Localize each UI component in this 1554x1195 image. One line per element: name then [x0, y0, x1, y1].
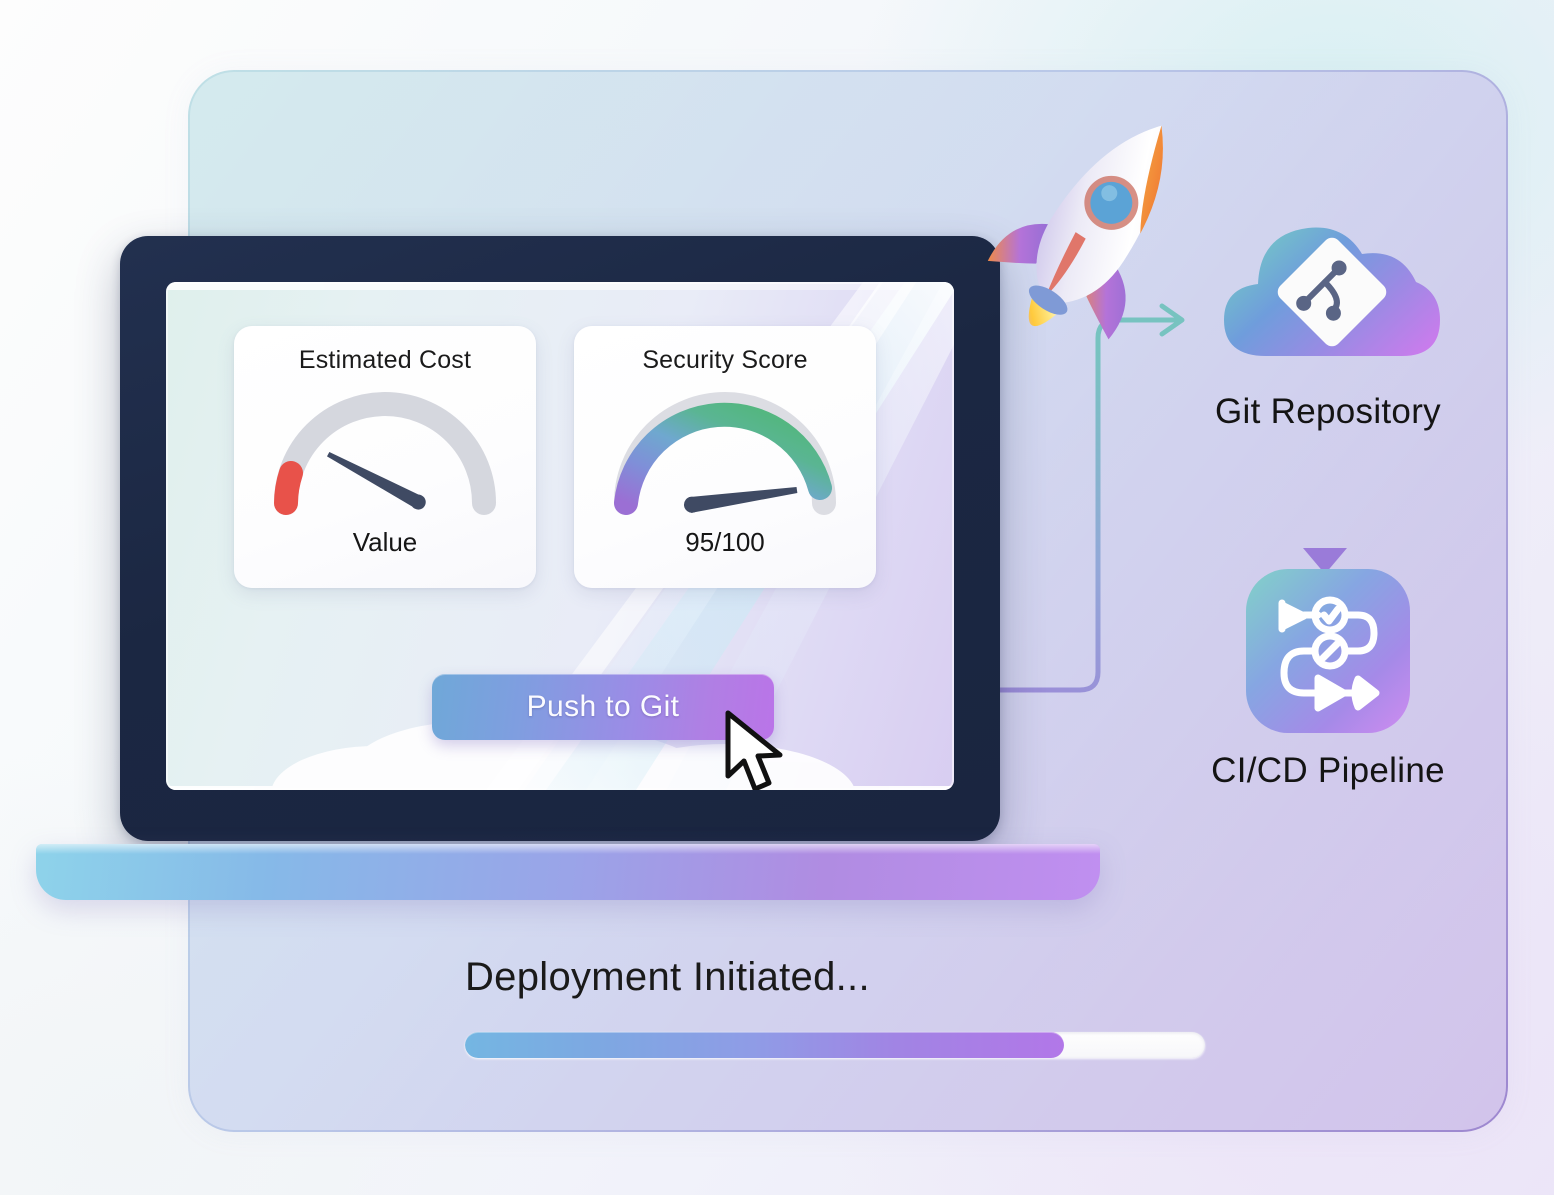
- deployment-status: Deployment Initiated...: [465, 955, 1225, 1058]
- laptop-lid: Estimated Cost Value: [120, 236, 1000, 841]
- illustration-stage: Estimated Cost Value: [0, 0, 1554, 1195]
- card-estimated-cost[interactable]: Estimated Cost Value: [234, 326, 536, 588]
- card-title: Estimated Cost: [299, 346, 471, 375]
- node-cicd-pipeline[interactable]: CI/CD Pipeline: [1178, 565, 1478, 791]
- base-shine: [36, 844, 1100, 854]
- laptop: Estimated Cost Value: [120, 236, 1100, 891]
- status-text: Deployment Initiated...: [465, 955, 1225, 1000]
- laptop-base: [36, 844, 1100, 900]
- card-security-score[interactable]: Security Score: [574, 326, 876, 588]
- progress-bar-fill: [465, 1032, 1064, 1058]
- card-title: Security Score: [642, 346, 807, 375]
- progress-bar: [465, 1032, 1205, 1058]
- gauge-estimated-cost: [260, 381, 510, 521]
- gauge-security-score: [600, 381, 850, 521]
- cicd-pipeline-icon: [1242, 565, 1414, 737]
- screen-highlight: [166, 282, 954, 290]
- laptop-screen: Estimated Cost Value: [166, 282, 954, 790]
- card-value: 95/100: [685, 527, 765, 558]
- node-label: Git Repository: [1215, 392, 1441, 432]
- card-value: Value: [353, 527, 418, 558]
- metric-cards: Estimated Cost Value: [234, 326, 894, 596]
- git-cloud-icon: [1204, 208, 1452, 378]
- node-git-repository[interactable]: Git Repository: [1178, 208, 1478, 432]
- node-label: CI/CD Pipeline: [1211, 751, 1445, 791]
- arrow-cursor-icon: [722, 710, 794, 790]
